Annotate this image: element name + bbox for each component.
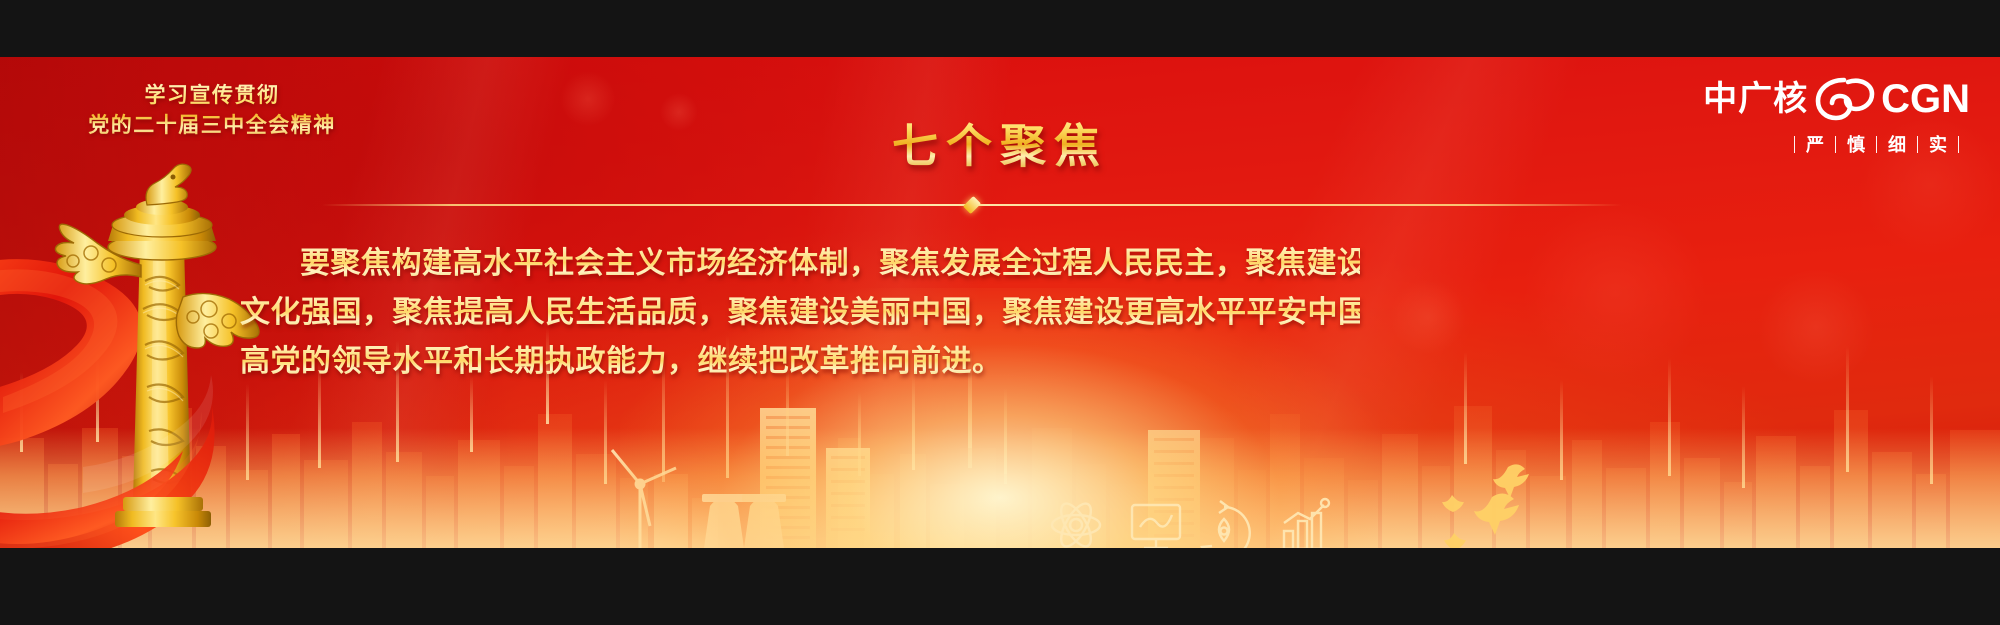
cgn-swoosh-icon: [1814, 76, 1876, 122]
logo-motto: 严 慎 细 实: [1640, 131, 1970, 157]
body-line-3: 高党的领导水平和长期执政能力，继续把改革推向前进。: [240, 337, 1360, 386]
dove-icon: [1442, 495, 1464, 512]
pillar-capital: [108, 199, 216, 260]
dove-icon: [1444, 533, 1466, 548]
divider-diamond-icon: [963, 196, 981, 214]
dove-icon: [1493, 464, 1529, 498]
motto-char-3: 细: [1888, 131, 1906, 157]
red-silk-ribbon-upper: [0, 259, 142, 450]
bar-chart-icon: [1280, 499, 1330, 548]
promotional-banner: 学习宣传贯彻 党的二十届三中全会精神 七个聚焦 要聚焦构建高水平社会主义市场经济…: [0, 0, 2000, 625]
motto-char-2: 慎: [1847, 131, 1865, 157]
pillar-base: [115, 497, 211, 527]
cooling-towers: [702, 494, 786, 548]
flying-doves: [1400, 455, 1550, 548]
motto-separator: [1958, 136, 1959, 153]
cgn-logo: 中广核 CGN 严 慎 细 实: [1640, 73, 1970, 168]
body-line-1: 要聚焦构建高水平社会主义市场经济体制，聚焦发展全过程人民民主，聚焦建设社会主义: [240, 239, 1360, 288]
motto-separator: [1794, 136, 1795, 153]
dove-icon: [1474, 493, 1519, 535]
motto-char-1: 严: [1806, 131, 1824, 157]
motto-separator: [1876, 136, 1877, 153]
motto-char-4: 实: [1929, 131, 1947, 157]
monitor-icon: [1132, 505, 1180, 548]
logo-chinese-name: 中广核: [1703, 82, 1808, 116]
poster-canvas: 学习宣传贯彻 党的二十届三中全会精神 七个聚焦 要聚焦构建高水平社会主义市场经济…: [0, 57, 2000, 548]
bottom-letterbox-bar: [0, 548, 2000, 625]
recycle-icon: [1202, 501, 1250, 548]
atom-icon: [1052, 499, 1100, 548]
body-paragraph: 要聚焦构建高水平社会主义市场经济体制，聚焦发展全过程人民民主，聚焦建设社会主义 …: [240, 239, 1360, 386]
logo-english-name: CGN: [1881, 79, 1970, 119]
technology-icon-strip: [1040, 469, 1340, 548]
body-line-2: 文化强国，聚焦提高人民生活品质，聚焦建设美丽中国，聚焦建设更高水平平安中国，聚焦…: [240, 288, 1360, 337]
motto-separator: [1917, 136, 1918, 153]
slogan-line-1: 学习宣传贯彻: [62, 81, 362, 111]
gold-divider: [322, 198, 1622, 212]
logo-wordmark-row: 中广核 CGN: [1640, 73, 1970, 125]
motto-separator: [1835, 136, 1836, 153]
top-letterbox-bar: [0, 0, 2000, 57]
